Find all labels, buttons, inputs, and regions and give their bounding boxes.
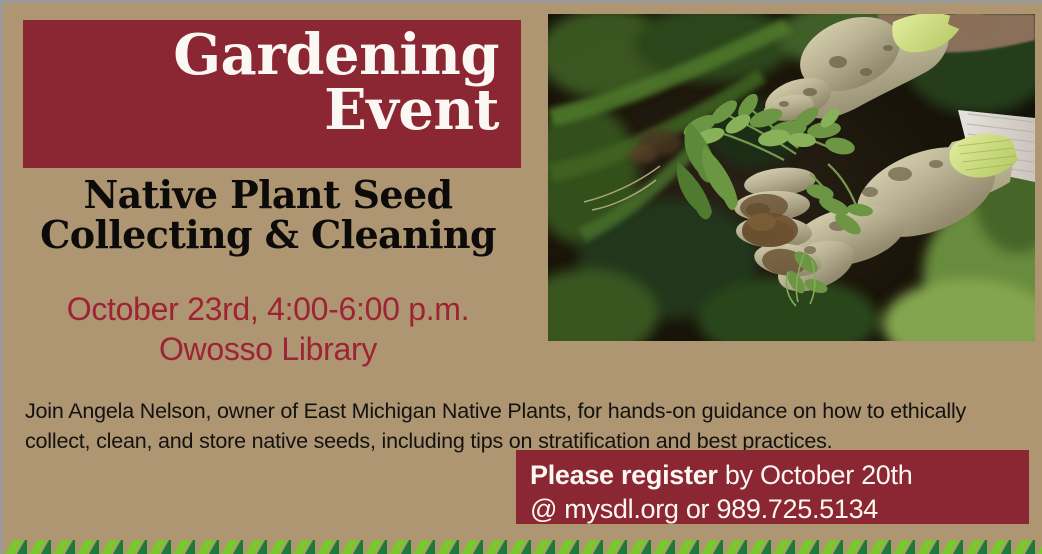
event-description: Join Angela Nelson, owner of East Michig…	[25, 396, 1005, 457]
gardening-photo	[548, 14, 1035, 341]
gardening-event-flyer: Gardening Event Native Plant Seed Collec…	[0, 0, 1042, 554]
register-line-1: Please register by October 20th	[530, 458, 1029, 492]
title-line-2: Event	[23, 83, 499, 138]
register-deadline: by October 20th	[718, 460, 913, 490]
flyer-left-column: Gardening Event Native Plant Seed Collec…	[3, 3, 533, 554]
register-contact: @ mysdl.org or 989.725.5134	[530, 492, 1029, 526]
bottom-chevron-stripe	[3, 532, 1042, 554]
register-emphasis: Please register	[530, 460, 718, 490]
subtitle-line-2: Collecting & Cleaning	[3, 215, 533, 255]
title-line-1: Gardening	[23, 26, 499, 83]
title-banner: Gardening Event	[23, 20, 521, 168]
event-details: October 23rd, 4:00-6:00 p.m. Owosso Libr…	[3, 289, 533, 370]
event-subtitle: Native Plant Seed Collecting & Cleaning	[3, 175, 533, 256]
event-location: Owosso Library	[3, 329, 533, 369]
registration-callout: Please register by October 20th @ mysdl.…	[516, 450, 1029, 524]
subtitle-line-1: Native Plant Seed	[3, 175, 533, 215]
event-datetime: October 23rd, 4:00-6:00 p.m.	[3, 289, 533, 329]
